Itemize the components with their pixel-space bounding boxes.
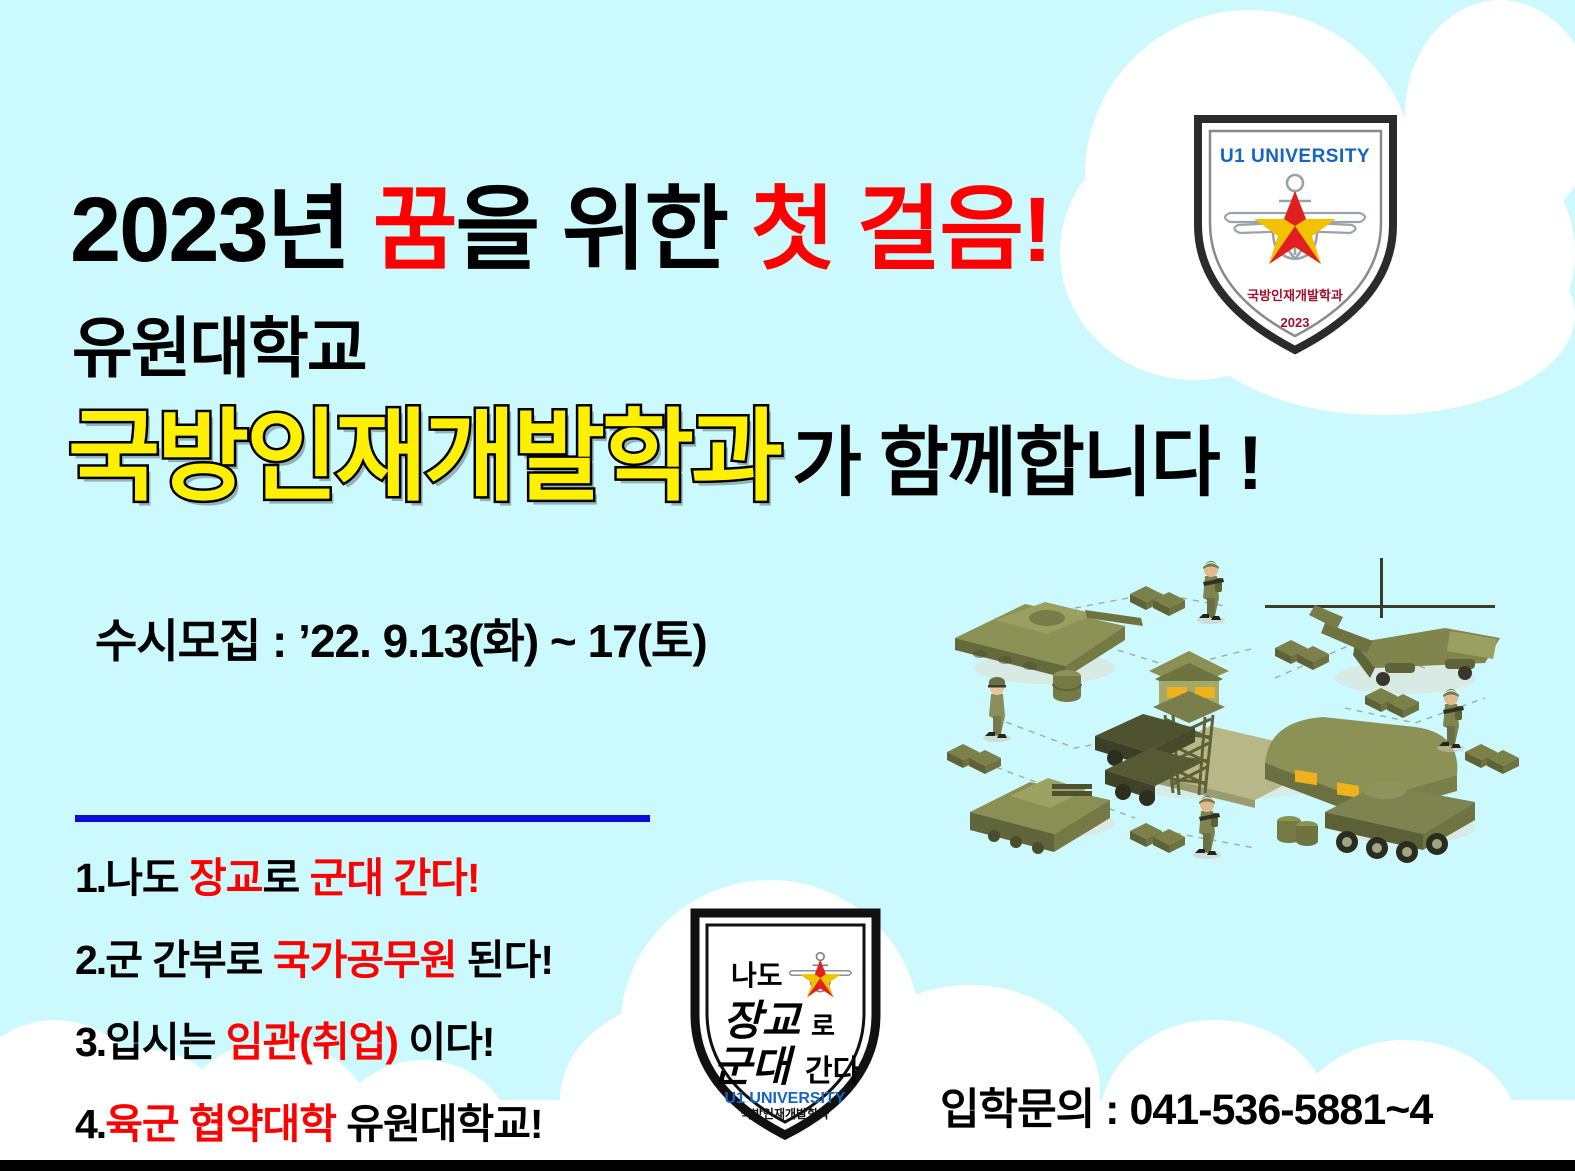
benefit-number: 2. — [75, 937, 105, 983]
department-suffix: 가 함께합니다 ! — [792, 424, 1261, 510]
benefits-list: 1.나도 장교로 군대 간다! 2.군 간부로 국가공무원 된다! 3.입시는 … — [75, 815, 655, 1171]
emblem-department-text: 국방인재개발학과 — [1247, 288, 1343, 303]
list-item: 2.군 간부로 국가공무원 된다! — [75, 926, 655, 986]
bottom-bar — [0, 1160, 1575, 1171]
list-item: 4.육군 협약대학 유원대학교! — [75, 1090, 655, 1150]
benefit-number: 3. — [75, 1019, 105, 1065]
department-headline: 국방인재개발학과 가 함께합니다 ! — [68, 405, 1261, 510]
cloud-shape — [1405, 0, 1575, 230]
slogan-emblem: 나도 장교 로 군대 간다 U1 UNIVERSITY 국방인재개발학과 — [683, 903, 888, 1143]
emblem-slogan-line2-suffix: 로 — [811, 1011, 835, 1041]
benefit-highlight-1: 임관(취업) — [226, 1019, 398, 1065]
benefit-highlight-2: 군대 간다! — [310, 855, 480, 901]
benefit-mid: 이다! — [398, 1019, 494, 1065]
emblem-slogan-line3: 군대 — [713, 1043, 796, 1090]
benefit-highlight-1: 장교 — [189, 855, 262, 901]
benefit-number: 1. — [75, 855, 105, 901]
divider-top — [75, 815, 650, 822]
benefit-mid: 로 — [263, 855, 310, 901]
emblem-department-text: 국방인재개발학과 — [741, 1106, 829, 1121]
emblem-university-text: U1 UNIVERSITY — [725, 1090, 846, 1107]
emblem-slogan-line1: 나도 — [731, 960, 783, 991]
benefit-pre: 나도 — [105, 855, 189, 901]
emblem-university-text: U1 UNIVERSITY — [1220, 146, 1370, 167]
benefit-pre: 입시는 — [105, 1019, 226, 1065]
university-name: 유원대학교 — [72, 295, 366, 391]
benefit-number: 4. — [75, 1101, 105, 1147]
benefit-pre: 군 간부로 — [105, 937, 273, 983]
benefit-highlight-1: 국가공무원 — [273, 937, 457, 983]
contact-info: 입학문의 : 041-536-5881~4 — [940, 1075, 1432, 1137]
page-title: 2023년 꿈을 위한 첫 걸음! — [70, 155, 1051, 288]
recruitment-period: 수시모집 : ’22. 9.13(화) ~ 17(토) — [95, 605, 707, 671]
military-base-illustration — [925, 548, 1525, 868]
emblem-slogan-line3-suffix: 간다 — [805, 1055, 861, 1088]
poster-canvas: U1 UNIVERSITY 국방인재개발학과 2023 나도 — [0, 0, 1575, 1171]
department-name: 국방인재개발학과 — [68, 405, 780, 510]
u1-university-emblem: U1 UNIVERSITY 국방인재개발학과 2023 — [1178, 105, 1413, 360]
headline-part1: 2023년 — [70, 179, 373, 281]
headline-part2: 을 위한 — [456, 179, 751, 281]
emblem-year-text: 2023 — [1281, 315, 1310, 330]
emblem-slogan-line2: 장교 — [723, 997, 803, 1044]
headline-highlight-firststep: 첫 걸음! — [751, 179, 1051, 281]
list-item: 3.입시는 임관(취업) 이다! — [75, 1008, 655, 1068]
benefit-highlight-1: 육군 협약대학 — [105, 1101, 336, 1147]
list-item: 1.나도 장교로 군대 간다! — [75, 844, 655, 904]
benefit-mid: 유원대학교! — [336, 1101, 543, 1147]
headline-highlight-dream: 꿈 — [373, 179, 456, 281]
benefit-mid: 된다! — [456, 937, 552, 983]
